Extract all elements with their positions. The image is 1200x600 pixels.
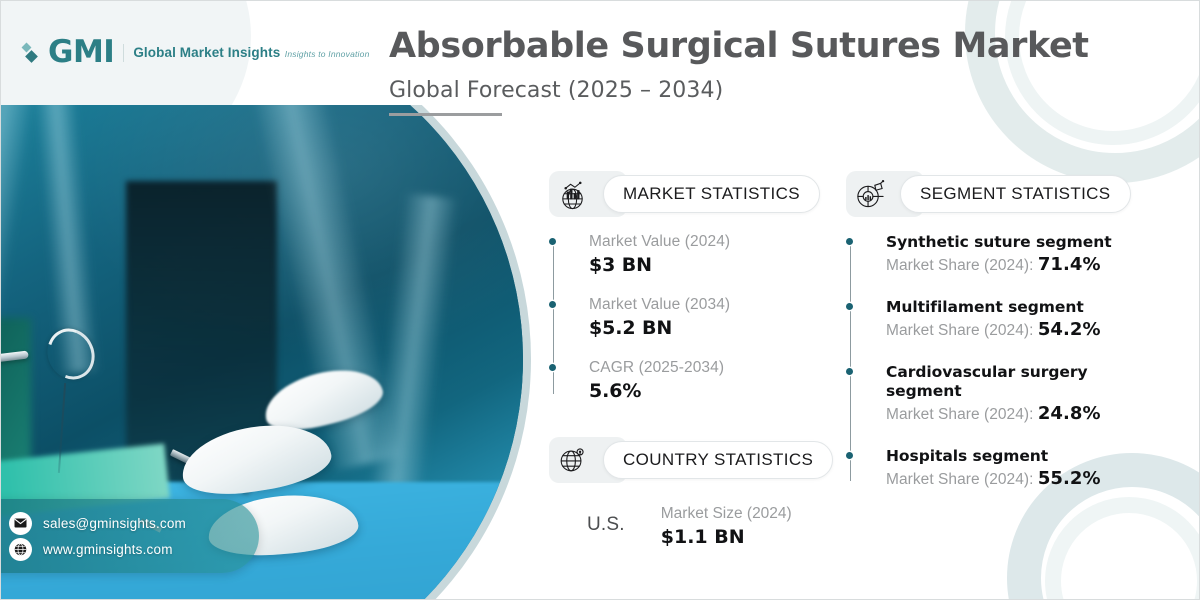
contact-website-text: www.gminsights.com [43,542,173,557]
country-statistics-row: U.S. Market Size (2024) $1.1 BN [549,505,849,548]
page-title: Absorbable Surgical Sutures Market [389,27,1089,66]
diamonds-icon [23,40,39,66]
country-name: U.S. [587,505,625,536]
segment-name: Synthetic suture segment [886,233,1176,252]
envelope-icon [9,512,32,535]
pie-chart-icon [846,171,892,217]
country-statistics-header: COUNTRY STATISTICS [549,437,849,483]
market-statistics-header: MARKET STATISTICS [549,171,839,217]
list-item: Market Value (2024) $3 BN [589,233,839,276]
country-statistics-title: COUNTRY STATISTICS [603,441,833,479]
logo-mark-text: GMI [48,37,114,68]
timeline-bullet [846,368,853,375]
segment-name: Cardiovascular surgery segment [886,363,1101,401]
contact-website-row[interactable]: www.gminsights.com [9,536,245,562]
market-statistics-title: MARKET STATISTICS [603,175,820,213]
timeline-connector [850,241,851,481]
list-item: Cardiovascular surgery segment Market Sh… [886,363,1176,424]
globe-pin-icon [549,437,595,483]
stat-label: Market Value (2024) [589,233,839,251]
segment-name: Multifilament segment [886,298,1176,317]
timeline-connector [553,241,554,394]
share-label: Market Share (2024): [886,406,1033,423]
share-label: Market Share (2024): [886,471,1033,488]
decorative-ring-bottom-right-inner [1045,497,1200,600]
stat-label: Market Value (2034) [589,296,839,314]
stat-value: 5.6% [589,380,839,402]
share-value: 55.2% [1038,468,1101,489]
stat-label: CAGR (2025-2034) [589,359,839,377]
timeline-bullet [846,452,853,459]
logo-tagline: Insights to Innovation [285,49,370,59]
contact-info-panel: sales@gminsights.com www.gminsights.com [1,499,259,573]
page-subtitle: Global Forecast (2025 – 2034) [389,78,1089,103]
list-item: Multifilament segment Market Share (2024… [886,298,1176,340]
share-label: Market Share (2024): [886,257,1033,274]
segment-share: Market Share (2024): 71.4% [886,254,1176,275]
segment-statistics-title: SEGMENT STATISTICS [900,175,1131,213]
contact-email-row[interactable]: sales@gminsights.com [9,510,245,536]
share-value: 54.2% [1038,319,1101,340]
logo-company-name: Global Market Insights [133,45,280,60]
share-value: 71.4% [1038,254,1101,275]
segment-share: Market Share (2024): 24.8% [886,403,1176,424]
market-statistics-list: Market Value (2024) $3 BN Market Value (… [549,233,839,402]
header: Absorbable Surgical Sutures Market Globa… [389,27,1089,116]
logo-wordmark: Global Market Insights Insights to Innov… [123,44,369,62]
timeline-bullet [549,364,556,371]
segment-statistics-header: SEGMENT STATISTICS [846,171,1176,217]
globe-bar-chart-icon [549,171,595,217]
timeline-bullet [549,301,556,308]
list-item: Hospitals segment Market Share (2024): 5… [886,447,1176,489]
list-item: CAGR (2025-2034) 5.6% [589,359,839,402]
stat-value: $1.1 BN [661,526,792,548]
company-logo[interactable]: GMI Global Market Insights Insights to I… [23,37,370,68]
segment-statistics-list: Synthetic suture segment Market Share (2… [846,233,1176,489]
contact-email-text: sales@gminsights.com [43,516,186,531]
stat-value: $5.2 BN [589,317,839,339]
country-statistics-panel: COUNTRY STATISTICS U.S. Market Size (202… [549,437,849,548]
globe-icon [9,538,32,561]
segment-name: Hospitals segment [886,447,1176,466]
timeline-bullet [549,238,556,245]
hero-photo: sales@gminsights.com www.gminsights.com [1,105,549,600]
list-item: Synthetic suture segment Market Share (2… [886,233,1176,275]
country-market-size: Market Size (2024) $1.1 BN [661,505,792,548]
market-statistics-panel: MARKET STATISTICS Market Value (2024) $3… [549,171,839,402]
timeline-bullet [846,238,853,245]
list-item: Market Value (2034) $5.2 BN [589,296,839,339]
share-label: Market Share (2024): [886,322,1033,339]
segment-share: Market Share (2024): 55.2% [886,468,1176,489]
segment-share: Market Share (2024): 54.2% [886,319,1176,340]
share-value: 24.8% [1038,403,1101,424]
title-underline [389,113,502,116]
segment-statistics-panel: SEGMENT STATISTICS Synthetic suture segm… [846,171,1176,512]
infographic-canvas: sales@gminsights.com www.gminsights.com [0,0,1200,600]
stat-label: Market Size (2024) [661,505,792,523]
stat-value: $3 BN [589,254,839,276]
timeline-bullet [846,303,853,310]
